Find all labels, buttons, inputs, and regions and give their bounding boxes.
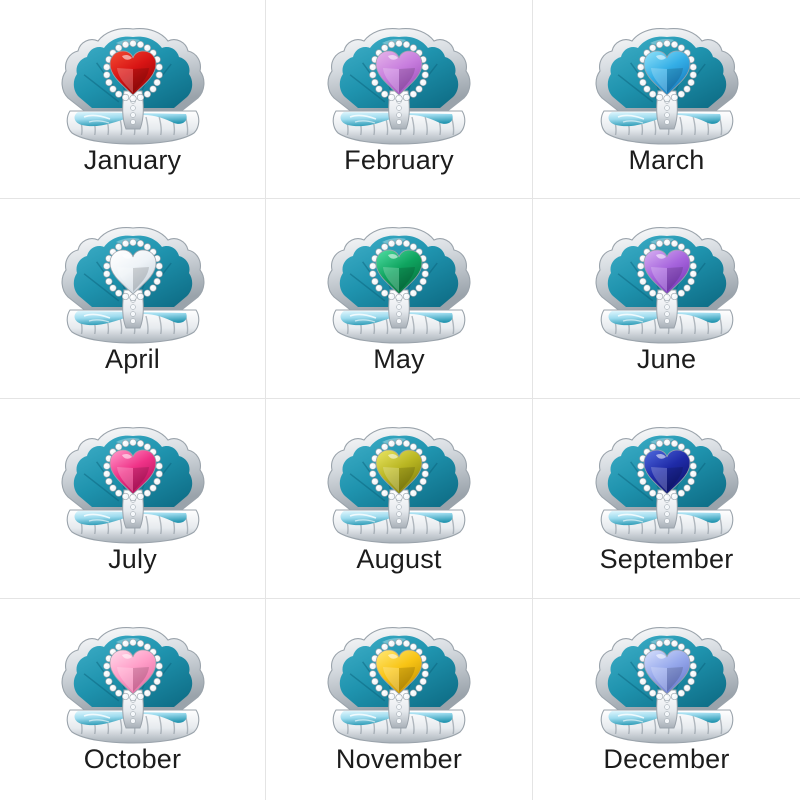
shell-charm-tourmaline-icon <box>58 615 208 740</box>
charm-cell-january[interactable]: January <box>0 0 266 199</box>
charm-cell-september[interactable]: September <box>533 399 800 599</box>
month-label: August <box>266 542 532 576</box>
shell-charm-diamond-icon <box>58 215 208 340</box>
charm-cell-february[interactable]: February <box>266 0 533 199</box>
shell-charm-garnet-icon <box>58 16 208 141</box>
shell-charm-amethyst-icon <box>324 16 474 141</box>
charm-cell-july[interactable]: July <box>0 399 266 599</box>
month-label: June <box>533 342 800 376</box>
month-label: November <box>266 742 532 776</box>
charm-cell-june[interactable]: June <box>533 199 800 399</box>
shell-charm-alexandrite-icon <box>592 215 742 340</box>
month-label: December <box>533 742 800 776</box>
charm-cell-october[interactable]: October <box>0 599 266 800</box>
shell-charm-emerald-icon <box>324 215 474 340</box>
month-label: May <box>266 342 532 376</box>
shell-charm-aquamarine-icon <box>592 16 742 141</box>
charm-cell-march[interactable]: March <box>533 0 800 199</box>
month-label: April <box>0 342 265 376</box>
charm-cell-may[interactable]: May <box>266 199 533 399</box>
shell-charm-sapphire-icon <box>592 415 742 540</box>
charm-cell-august[interactable]: August <box>266 399 533 599</box>
shell-charm-citrine-icon <box>324 615 474 740</box>
birthstone-charm-grid: JanuaryFebruaryMarchAprilMayJuneJulyAugu… <box>0 0 800 800</box>
month-label: February <box>266 143 532 177</box>
charm-cell-november[interactable]: November <box>266 599 533 800</box>
month-label: September <box>533 542 800 576</box>
shell-charm-ruby-icon <box>58 415 208 540</box>
charm-cell-april[interactable]: April <box>0 199 266 399</box>
month-label: January <box>0 143 265 177</box>
shell-charm-peridot-icon <box>324 415 474 540</box>
shell-charm-tanzanite-icon <box>592 615 742 740</box>
charm-cell-december[interactable]: December <box>533 599 800 800</box>
month-label: July <box>0 542 265 576</box>
month-label: March <box>533 143 800 177</box>
month-label: October <box>0 742 265 776</box>
